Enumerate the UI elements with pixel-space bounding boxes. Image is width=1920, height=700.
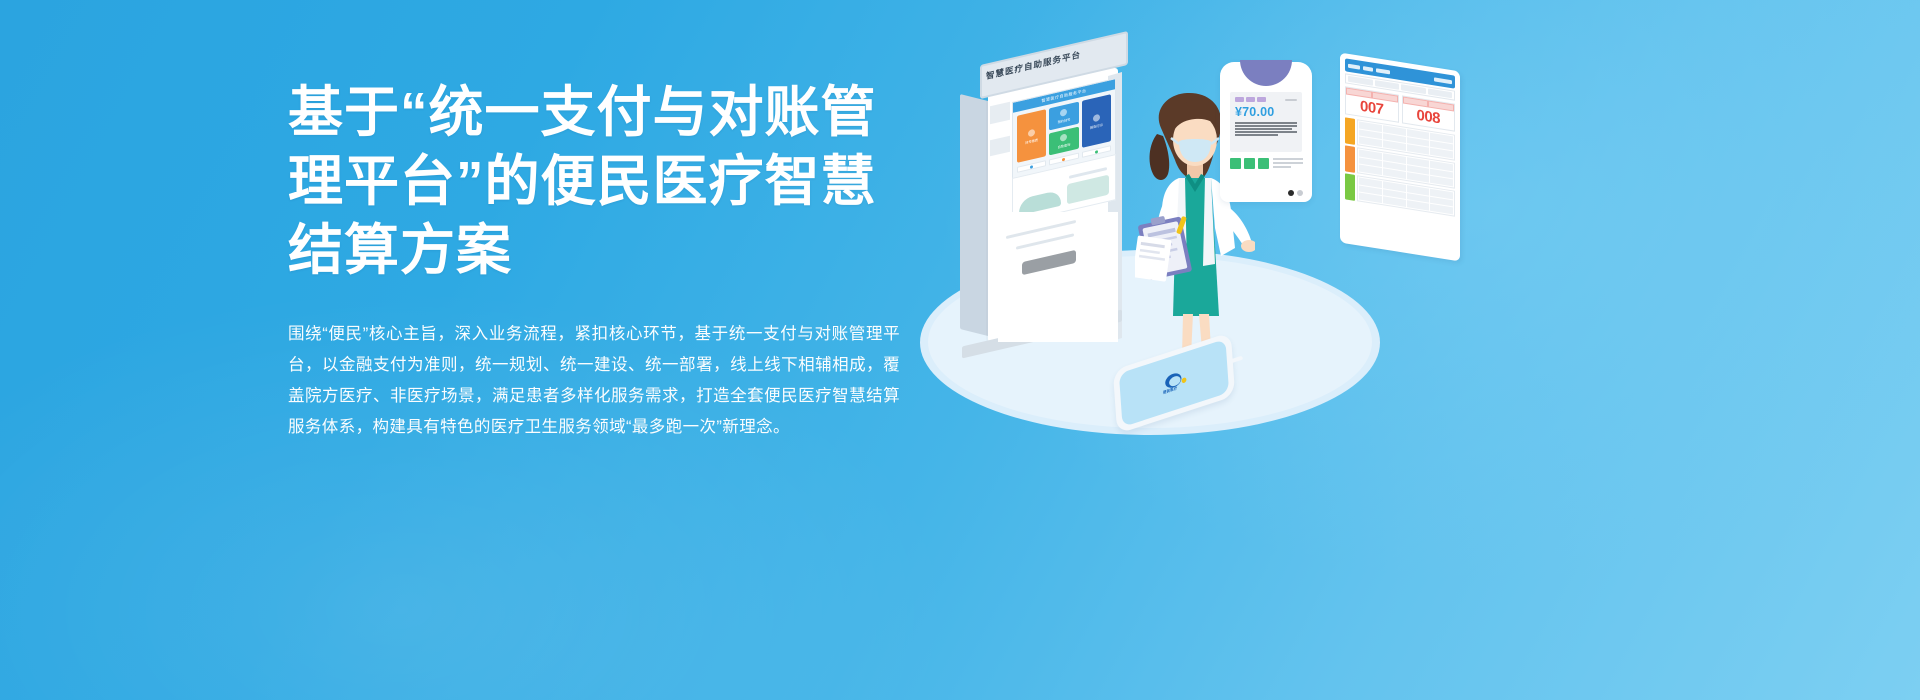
pos-indicator-dots: [1288, 190, 1303, 196]
kiosk-tile-col-3: 报告打印: [1082, 94, 1111, 148]
phone-logo-label: 便民医疗: [1163, 386, 1178, 396]
kiosk-tile-1[interactable]: 预约挂号: [1049, 102, 1078, 131]
queue-row-label-2: [1345, 173, 1355, 201]
mobile-phone: 便民医疗: [1112, 352, 1252, 442]
kiosk-tray-right: [1067, 175, 1109, 205]
queue-call-1: 008: [1402, 95, 1456, 131]
phone-screen[interactable]: 便民医疗: [1119, 339, 1229, 427]
app-logo-icon: 便民医疗: [1161, 370, 1187, 397]
pos-receipt-lines: [1235, 122, 1297, 136]
queue-row-label-0: [1345, 117, 1355, 145]
pos-body: ¥70.00: [1220, 62, 1312, 202]
kiosk-tile-label-0: 挂号缴费: [1025, 136, 1038, 144]
kiosk-lower-panel: [998, 212, 1118, 342]
hero-text-block: 基于“统一支付与对账管 理平台”的便民医疗智慧 结算方案 围绕“便民”核心主旨，…: [288, 78, 908, 443]
self-service-kiosk: 智慧医疗自助服务平台 智慧医疗自助服务平台 挂号缴费 预约挂: [960, 42, 1160, 332]
hero-description: 围绕“便民”核心主旨，深入业务流程，紧扣核心环节，基于统一支付与对账管理平台，以…: [288, 319, 900, 443]
pos-keypad[interactable]: [1230, 158, 1269, 169]
kiosk-tile-3[interactable]: 自助查询: [1049, 127, 1078, 156]
doctor-papers: [1135, 235, 1172, 281]
user-icon: [1060, 108, 1067, 117]
hero-banner: 基于“统一支付与对账管 理平台”的便民医疗智慧 结算方案 围绕“便民”核心主旨，…: [0, 0, 1920, 700]
pos-screen: ¥70.00: [1230, 92, 1302, 152]
kiosk-tile-col-2: 预约挂号 自助查询: [1049, 102, 1078, 156]
printer-icon: [1093, 113, 1100, 122]
kiosk-tile-2[interactable]: 报告打印: [1082, 94, 1111, 148]
doctor-hair-strand: [1150, 134, 1170, 180]
page-title: 基于“统一支付与对账管 理平台”的便民医疗智慧 结算方案: [288, 78, 908, 285]
kiosk-tile-label-2: 报告打印: [1090, 122, 1103, 130]
queue-board-frame: 007 008: [1340, 52, 1460, 261]
kiosk-tile-label-3: 自助查询: [1058, 142, 1071, 150]
kiosk-tile-label-1: 预约挂号: [1058, 117, 1071, 125]
pos-top-cap: [1240, 60, 1292, 86]
search-icon: [1060, 133, 1067, 142]
queue-department-rows: [1345, 117, 1455, 216]
queue-display-board: 007 008: [1340, 52, 1460, 261]
kiosk-tile-0[interactable]: 挂号缴费: [1017, 109, 1046, 163]
pos-chip-row: [1235, 97, 1297, 102]
queue-row-label-1: [1345, 145, 1355, 173]
pos-amount: ¥70.00: [1235, 105, 1297, 119]
pos-side-lines: [1273, 158, 1303, 170]
queue-call-0: 007: [1345, 86, 1399, 122]
pos-terminal: ¥70.00: [1220, 62, 1312, 202]
plus-icon: [1028, 128, 1035, 137]
hero-illustration: 智慧医疗自助服务平台 智慧医疗自助服务平台 挂号缴费 预约挂: [890, 0, 1920, 700]
kiosk-tile-col-1: 挂号缴费: [1017, 109, 1046, 163]
